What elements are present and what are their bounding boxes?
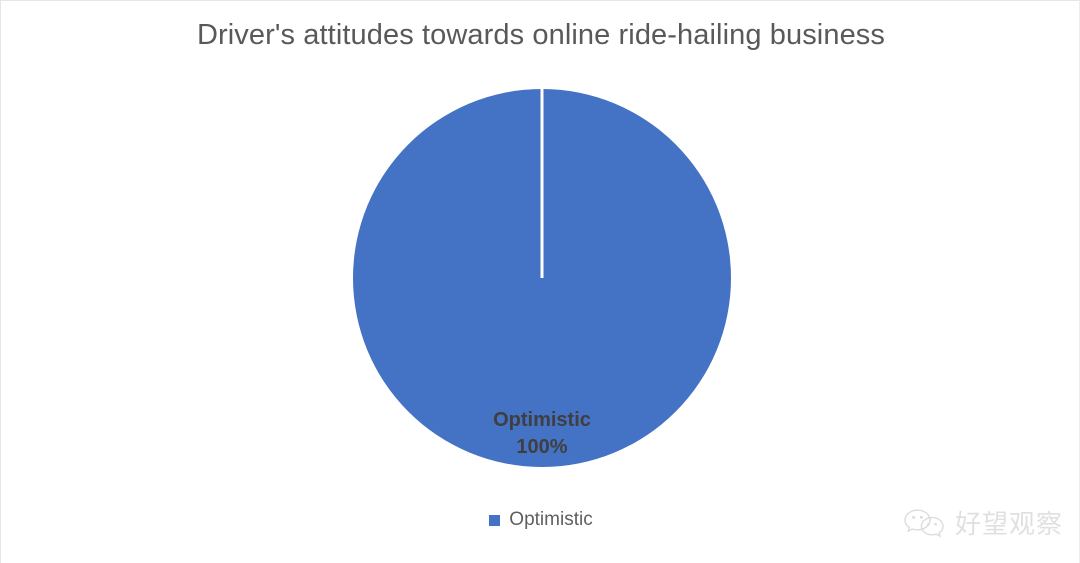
chart-canvas: Driver's attitudes towards online ride-h…	[0, 0, 1080, 563]
pie-plot-area	[353, 89, 731, 467]
legend-swatch-icon	[489, 515, 500, 526]
legend-item-optimistic[interactable]: Optimistic	[489, 509, 592, 531]
legend-item-label: Optimistic	[509, 509, 592, 531]
chart-legend: Optimistic	[1, 509, 1080, 531]
pie-chart-svg	[353, 89, 731, 467]
chart-title: Driver's attitudes towards online ride-h…	[1, 19, 1080, 52]
